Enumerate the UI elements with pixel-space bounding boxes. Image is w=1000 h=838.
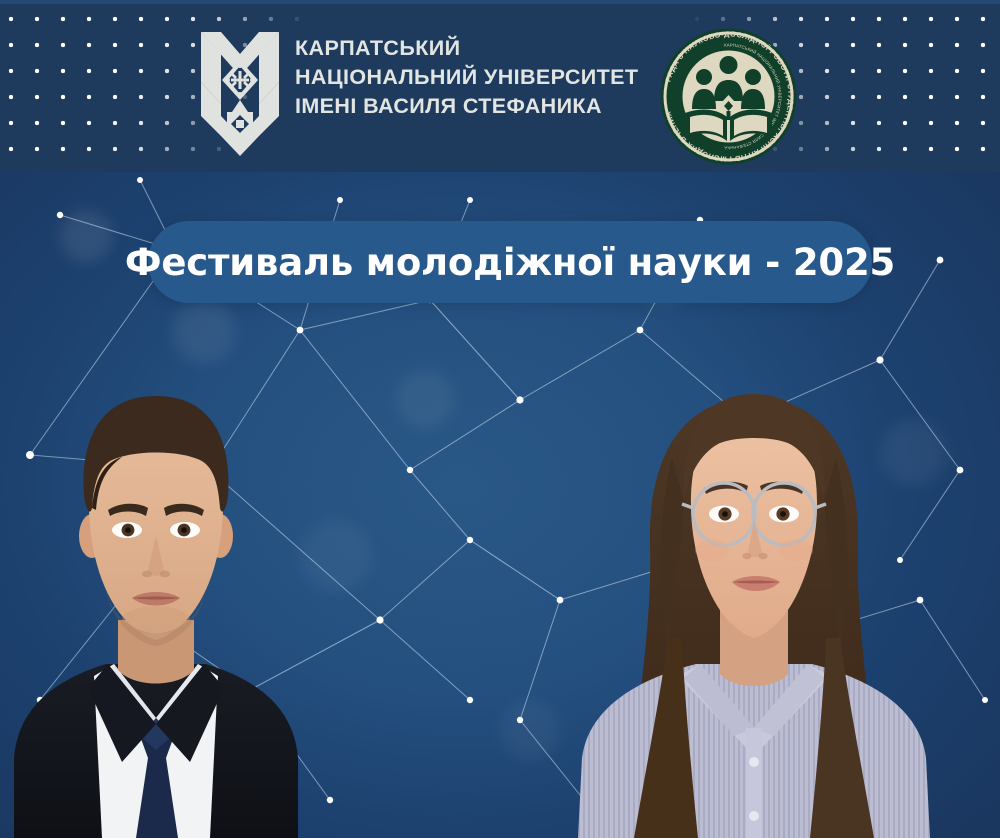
uni-name-line-2: НАЦІОНАЛЬНИЙ УНІВЕРСИТЕТ [295,65,638,90]
portrait-woman-right [548,338,960,838]
council-research-emblem-icon: РАДА З НАУКОВО-ДОСЛІДНОЇ РОБОТИ СТУДЕНТІ… [657,25,800,168]
poster-root: КАРПАТСЬКИЙ НАЦІОНАЛЬНИЙ УНІВЕРСИТЕТ ІМЕ… [0,0,1000,838]
karpatskyi-university-crest-icon [199,24,281,160]
portrait-man-left [0,358,316,838]
university-brand: КАРПАТСЬКИЙ НАЦІОНАЛЬНИЙ УНІВЕРСИТЕТ ІМЕ… [199,24,638,160]
emblem-city-text: Івано-Франківськ [704,147,753,153]
festival-title-banner: Фестиваль молодіжної науки - 2025 [148,221,872,303]
uni-name-line-1: КАРПАТСЬКИЙ [295,36,638,61]
uni-name-line-3: ІМЕНІ ВАСИЛЯ СТЕФАНИКА [295,94,638,119]
page-title: Фестиваль молодіжної науки - 2025 [125,241,895,284]
university-name: КАРПАТСЬКИЙ НАЦІОНАЛЬНИЙ УНІВЕРСИТЕТ ІМЕ… [295,36,638,119]
